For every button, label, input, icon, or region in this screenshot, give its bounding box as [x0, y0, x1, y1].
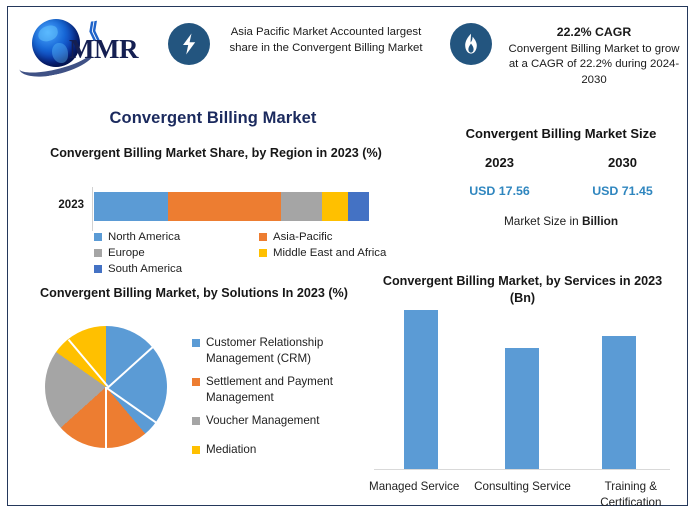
legend-item-south-america: South America: [94, 261, 262, 277]
market-size-years: 2023 2030: [438, 155, 684, 170]
cagr-highlight-text: 22.2% CAGR Convergent Billing Market to …: [503, 23, 685, 88]
region-bar-row: 2023: [16, 190, 416, 226]
region-segment-north-america: [94, 192, 168, 221]
pie-divider: [68, 339, 109, 387]
services-bar-managed-service: [404, 310, 438, 469]
legend-label: Mediation: [206, 442, 256, 458]
legend-item-middle-east-africa: Middle East and Africa: [259, 245, 424, 261]
legend-swatch-icon: [94, 233, 102, 241]
legend-item-asia-pacific: Asia-Pacific: [259, 229, 424, 245]
solutions-pie-chart: Convergent Billing Market, by Solutions …: [14, 285, 374, 513]
region-category-label: 2023: [38, 199, 84, 211]
legend-item-mediation: Mediation: [192, 442, 372, 458]
legend-item-settlement-payment: Settlement and Payment Management: [192, 374, 372, 406]
legend-item-crm: Customer Relationship Management (CRM): [192, 335, 372, 367]
legend-item-voucher-management: Voucher Management: [192, 413, 372, 429]
services-chart-title: Convergent Billing Market, by Services i…: [360, 269, 685, 307]
legend-swatch-icon: [259, 233, 267, 241]
solutions-legend: Customer Relationship Management (CRM) S…: [192, 335, 372, 465]
apac-highlight-badge: Asia Pacific Market Accounted largest sh…: [168, 23, 438, 65]
services-label-consulting-service: Consulting Service: [468, 479, 576, 511]
region-chart-title: Convergent Billing Market Share, by Regi…: [16, 145, 416, 162]
legend-swatch-icon: [192, 446, 200, 454]
market-size-note-prefix: Market Size in: [504, 214, 582, 228]
cagr-headline: 22.2% CAGR: [503, 25, 685, 41]
services-baseline: [374, 469, 670, 470]
region-axis-line: [92, 187, 93, 231]
region-segment-middle-east-africa: [322, 192, 348, 221]
region-segment-asia-pacific: [168, 192, 281, 221]
cagr-highlight-badge: 22.2% CAGR Convergent Billing Market to …: [450, 23, 685, 88]
pie-divider: [105, 387, 107, 448]
legend-label: Voucher Management: [206, 413, 319, 429]
apac-highlight-text: Asia Pacific Market Accounted largest sh…: [221, 23, 431, 56]
brand-name: MMR: [69, 34, 138, 65]
legend-label: Customer Relationship Management (CRM): [206, 335, 372, 367]
services-category-labels: Managed Service Consulting Service Train…: [360, 479, 685, 511]
market-size-year-start: 2023: [438, 155, 561, 170]
legend-swatch-icon: [192, 417, 200, 425]
pie-divider: [107, 346, 154, 388]
services-label-managed-service: Managed Service: [360, 479, 468, 511]
page-title: Convergent Billing Market: [8, 109, 418, 128]
services-plot-area: Convergent Billing Market, by Services i…: [360, 269, 685, 477]
services-label-training-certification: Training & Certification: [577, 479, 685, 511]
market-size-panel: Convergent Billing Market Size 2023 2030…: [438, 125, 684, 228]
legend-label: Asia-Pacific: [273, 229, 333, 245]
cagr-description: Convergent Billing Market to grow at a C…: [509, 43, 680, 86]
legend-item-north-america: North America: [94, 229, 259, 245]
market-size-unit-note: Market Size in Billion: [438, 214, 684, 228]
legend-label: South America: [108, 261, 182, 277]
pie-divider: [106, 387, 157, 424]
lightning-bolt-icon: [168, 23, 210, 65]
market-size-note-unit: Billion: [582, 214, 618, 228]
legend-label: Settlement and Payment Management: [206, 374, 372, 406]
pie-graphic: [45, 326, 167, 448]
mmr-logo: ⟫ MMR: [16, 13, 156, 77]
market-size-value-start: USD 17.56: [438, 184, 561, 198]
legend-label: Europe: [108, 245, 145, 261]
region-stacked-bar: [94, 192, 369, 221]
region-share-chart: Convergent Billing Market Share, by Regi…: [16, 145, 416, 285]
region-segment-europe: [281, 192, 322, 221]
market-size-title: Convergent Billing Market Size: [438, 125, 684, 143]
market-size-year-end: 2030: [561, 155, 684, 170]
region-legend-row: North America Asia-Pacific: [94, 229, 424, 245]
legend-swatch-icon: [192, 378, 200, 386]
legend-swatch-icon: [94, 249, 102, 257]
region-legend-row: Europe Middle East and Africa: [94, 245, 424, 261]
market-size-value-end: USD 71.45: [561, 184, 684, 198]
region-segment-south-america: [348, 192, 369, 221]
legend-label: North America: [108, 229, 180, 245]
infographic-canvas: ⟫ MMR Asia Pacific Market Accounted larg…: [7, 6, 688, 506]
services-bar-consulting-service: [505, 348, 539, 469]
market-size-values: USD 17.56 USD 71.45: [438, 184, 684, 198]
services-bar-chart: Convergent Billing Market, by Services i…: [360, 269, 685, 513]
legend-swatch-icon: [94, 265, 102, 273]
legend-label: Middle East and Africa: [273, 245, 386, 261]
legend-item-europe: Europe: [94, 245, 259, 261]
flame-icon: [450, 23, 492, 65]
solutions-chart-title: Convergent Billing Market, by Solutions …: [14, 285, 374, 302]
services-bar-training-certification: [602, 336, 636, 469]
legend-swatch-icon: [259, 249, 267, 257]
legend-swatch-icon: [192, 339, 200, 347]
